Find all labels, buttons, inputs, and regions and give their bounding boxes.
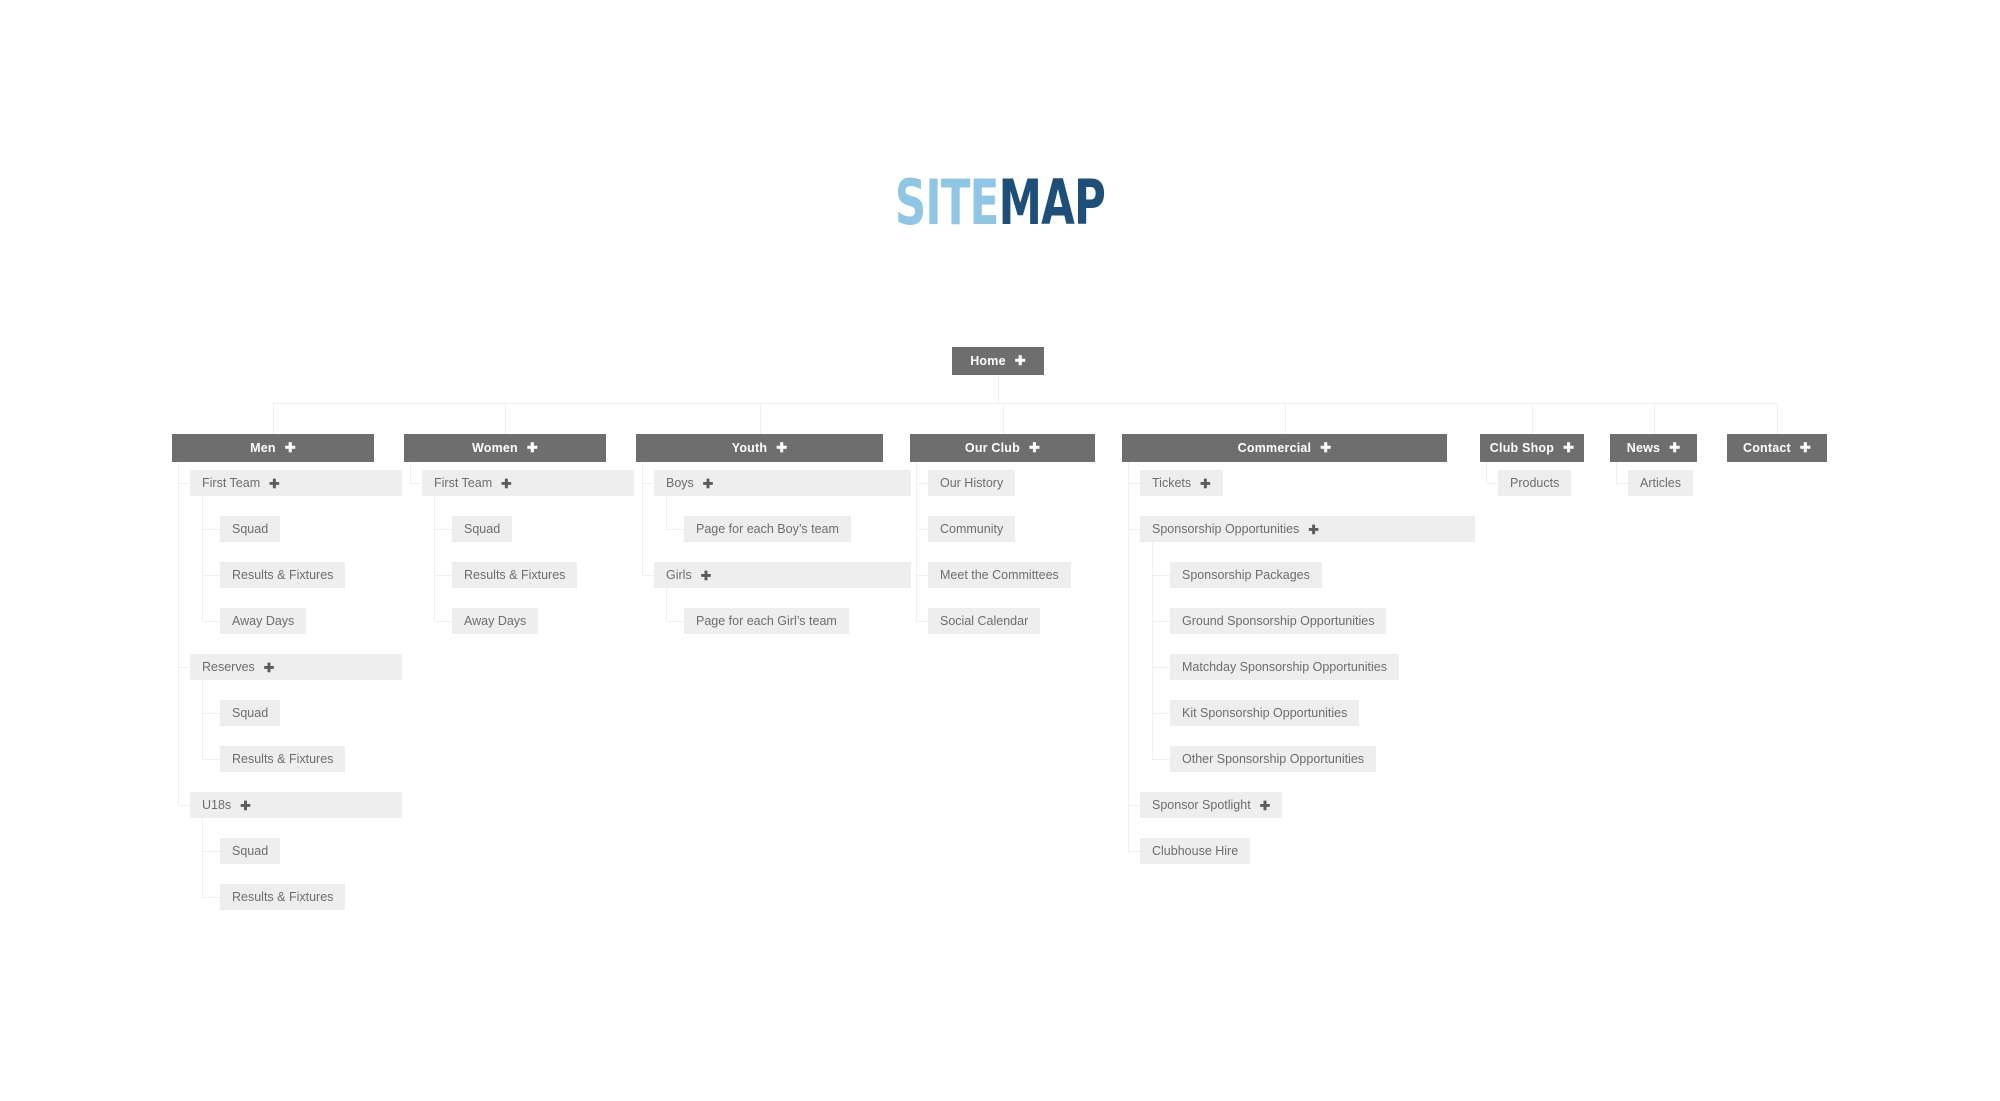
connector-stub	[1152, 575, 1170, 576]
node-our-club-label: Our Club	[965, 441, 1020, 455]
node-squad-label: Squad	[232, 844, 268, 858]
expand-icon[interactable]: ✚	[1015, 353, 1026, 369]
connector-root-drop	[998, 375, 999, 403]
connector-rail	[202, 496, 203, 621]
node-sponsorship-packages-label: Sponsorship Packages	[1182, 568, 1310, 582]
node-results-fixtures[interactable]: Results & Fixtures	[220, 746, 345, 772]
node-our-history-label: Our History	[940, 476, 1003, 490]
expand-icon[interactable]: ✚	[701, 568, 711, 583]
node-results-fixtures-label: Results & Fixtures	[232, 752, 333, 766]
node-reserves[interactable]: Reserves✚	[190, 654, 402, 680]
node-squad[interactable]: Squad	[220, 700, 280, 726]
connector-stub	[202, 529, 220, 530]
node-our-club[interactable]: Our Club✚	[910, 434, 1095, 462]
connector-rail	[916, 462, 917, 621]
connector-stub	[202, 851, 220, 852]
expand-icon[interactable]: ✚	[1260, 798, 1270, 813]
node-reserves-label: Reserves	[202, 660, 255, 674]
expand-icon[interactable]: ✚	[703, 476, 713, 491]
connector-rail	[642, 462, 643, 575]
node-boys[interactable]: Boys✚	[654, 470, 911, 496]
connector-stub	[916, 621, 928, 622]
node-other-sponsorship-opportunities[interactable]: Other Sponsorship Opportunities	[1170, 746, 1376, 772]
connector-rail	[410, 462, 411, 483]
page-title-part1: SITE	[895, 166, 999, 239]
node-squad-label: Squad	[232, 706, 268, 720]
node-page-for-each-girl-s-team-label: Page for each Girl’s team	[696, 614, 837, 628]
connector-stub	[202, 759, 220, 760]
connector-stub	[1128, 483, 1140, 484]
node-sponsorship-opportunities-label: Sponsorship Opportunities	[1152, 522, 1299, 536]
connector-rail	[666, 588, 667, 621]
connector-stub	[1152, 713, 1170, 714]
connector-stub	[410, 483, 422, 484]
node-away-days-label: Away Days	[232, 614, 294, 628]
node-news[interactable]: News✚	[1610, 434, 1697, 462]
node-first-team-label: First Team	[434, 476, 492, 490]
connector-stub	[1128, 805, 1140, 806]
node-home-label: Home	[970, 354, 1006, 368]
connector-stub	[178, 805, 190, 806]
node-matchday-sponsorship-opportunities-label: Matchday Sponsorship Opportunities	[1182, 660, 1387, 674]
node-social-calendar-label: Social Calendar	[940, 614, 1028, 628]
node-articles-label: Articles	[1640, 476, 1681, 490]
node-women[interactable]: Women✚	[404, 434, 606, 462]
node-products-label: Products	[1510, 476, 1559, 490]
expand-icon[interactable]: ✚	[776, 440, 787, 456]
node-results-fixtures[interactable]: Results & Fixtures	[452, 562, 577, 588]
connector-rail	[202, 818, 203, 897]
node-our-history[interactable]: Our History	[928, 470, 1015, 496]
node-men[interactable]: Men✚	[172, 434, 374, 462]
node-results-fixtures-label: Results & Fixtures	[232, 890, 333, 904]
node-contact[interactable]: Contact✚	[1727, 434, 1827, 462]
node-community[interactable]: Community	[928, 516, 1015, 542]
connector-rail	[666, 496, 667, 529]
node-first-team[interactable]: First Team✚	[190, 470, 402, 496]
connector-stub	[178, 483, 190, 484]
connector-stub	[1616, 483, 1628, 484]
node-page-for-each-boy-s-team[interactable]: Page for each Boy’s team	[684, 516, 851, 542]
connector-stub	[1128, 529, 1140, 530]
connector-column-drop	[1285, 403, 1286, 434]
connector-rail	[1128, 462, 1129, 851]
node-away-days[interactable]: Away Days	[452, 608, 538, 634]
expand-icon[interactable]: ✚	[285, 440, 296, 456]
node-girls-label: Girls	[666, 568, 692, 582]
expand-icon[interactable]: ✚	[1563, 440, 1574, 456]
node-men-label: Men	[250, 441, 276, 455]
node-results-fixtures[interactable]: Results & Fixtures	[220, 884, 345, 910]
node-clubhouse-hire-label: Clubhouse Hire	[1152, 844, 1238, 858]
connector-stub	[202, 575, 220, 576]
node-matchday-sponsorship-opportunities[interactable]: Matchday Sponsorship Opportunities	[1170, 654, 1399, 680]
node-ground-sponsorship-opportunities-label: Ground Sponsorship Opportunities	[1182, 614, 1374, 628]
expand-icon[interactable]: ✚	[269, 476, 279, 491]
connector-stub	[666, 529, 684, 530]
node-women-label: Women	[472, 441, 518, 455]
node-ground-sponsorship-opportunities[interactable]: Ground Sponsorship Opportunities	[1170, 608, 1386, 634]
expand-icon[interactable]: ✚	[1800, 440, 1811, 456]
node-away-days-label: Away Days	[464, 614, 526, 628]
connector-stub	[1128, 851, 1140, 852]
node-u18s[interactable]: U18s✚	[190, 792, 402, 818]
node-sponsorship-packages[interactable]: Sponsorship Packages	[1170, 562, 1322, 588]
node-sponsor-spotlight[interactable]: Sponsor Spotlight✚	[1140, 792, 1282, 818]
expand-icon[interactable]: ✚	[264, 660, 274, 675]
node-page-for-each-boy-s-team-label: Page for each Boy’s team	[696, 522, 839, 536]
node-commercial-label: Commercial	[1238, 441, 1312, 455]
node-results-fixtures-label: Results & Fixtures	[464, 568, 565, 582]
node-home[interactable]: Home✚	[952, 347, 1044, 375]
connector-rail	[178, 462, 179, 805]
connector-column-drop	[1532, 403, 1533, 434]
node-community-label: Community	[940, 522, 1003, 536]
expand-icon[interactable]: ✚	[501, 476, 511, 491]
node-squad-label: Squad	[232, 522, 268, 536]
node-meet-the-committees-label: Meet the Committees	[940, 568, 1059, 582]
node-sponsor-spotlight-label: Sponsor Spotlight	[1152, 798, 1251, 812]
connector-bus	[273, 403, 1777, 404]
connector-stub	[202, 621, 220, 622]
expand-icon[interactable]: ✚	[1200, 476, 1210, 491]
node-articles[interactable]: Articles	[1628, 470, 1693, 496]
node-clubhouse-hire[interactable]: Clubhouse Hire	[1140, 838, 1250, 864]
node-first-team-label: First Team	[202, 476, 260, 490]
connector-column-drop	[273, 403, 274, 434]
expand-icon[interactable]: ✚	[1669, 440, 1680, 456]
node-squad[interactable]: Squad	[220, 838, 280, 864]
connector-stub	[642, 575, 654, 576]
expand-icon[interactable]: ✚	[527, 440, 538, 456]
connector-rail	[1486, 462, 1487, 483]
connector-stub	[434, 529, 452, 530]
node-u18s-label: U18s	[202, 798, 231, 812]
connector-rail	[202, 680, 203, 759]
connector-stub	[1152, 621, 1170, 622]
expand-icon[interactable]: ✚	[1308, 522, 1318, 537]
node-club-shop[interactable]: Club Shop✚	[1480, 434, 1584, 462]
node-squad[interactable]: Squad	[452, 516, 512, 542]
node-away-days[interactable]: Away Days	[220, 608, 306, 634]
connector-column-drop	[760, 403, 761, 434]
connector-stub	[916, 575, 928, 576]
connector-column-drop	[505, 403, 506, 434]
node-results-fixtures-label: Results & Fixtures	[232, 568, 333, 582]
node-youth-label: Youth	[732, 441, 767, 455]
expand-icon[interactable]: ✚	[1029, 440, 1040, 456]
node-commercial[interactable]: Commercial✚	[1122, 434, 1447, 462]
connector-stub	[178, 667, 190, 668]
node-first-team[interactable]: First Team✚	[422, 470, 634, 496]
node-tickets[interactable]: Tickets✚	[1140, 470, 1223, 496]
connector-rail	[434, 496, 435, 621]
node-youth[interactable]: Youth✚	[636, 434, 883, 462]
node-squad-label: Squad	[464, 522, 500, 536]
connector-column-drop	[1003, 403, 1004, 434]
expand-icon[interactable]: ✚	[240, 798, 250, 813]
connector-stub	[666, 621, 684, 622]
node-girls[interactable]: Girls✚	[654, 562, 911, 588]
connector-stub	[434, 621, 452, 622]
node-products[interactable]: Products	[1498, 470, 1571, 496]
node-kit-sponsorship-opportunities-label: Kit Sponsorship Opportunities	[1182, 706, 1347, 720]
node-social-calendar[interactable]: Social Calendar	[928, 608, 1040, 634]
connector-stub	[1152, 759, 1170, 760]
connector-rail	[1616, 462, 1617, 483]
sitemap-canvas: SITEMAP Home✚Men✚First Team✚SquadResults…	[0, 0, 2000, 1101]
node-boys-label: Boys	[666, 476, 694, 490]
connector-stub	[916, 529, 928, 530]
connector-stub	[434, 575, 452, 576]
node-news-label: News	[1627, 441, 1660, 455]
connector-stub	[1486, 483, 1498, 484]
node-kit-sponsorship-opportunities[interactable]: Kit Sponsorship Opportunities	[1170, 700, 1359, 726]
node-meet-the-committees[interactable]: Meet the Committees	[928, 562, 1071, 588]
connector-stub	[202, 713, 220, 714]
connector-stub	[916, 483, 928, 484]
node-page-for-each-girl-s-team[interactable]: Page for each Girl’s team	[684, 608, 849, 634]
node-sponsorship-opportunities[interactable]: Sponsorship Opportunities✚	[1140, 516, 1475, 542]
node-other-sponsorship-opportunities-label: Other Sponsorship Opportunities	[1182, 752, 1364, 766]
page-title-part2: MAP	[999, 166, 1106, 239]
node-contact-label: Contact	[1743, 441, 1791, 455]
node-squad[interactable]: Squad	[220, 516, 280, 542]
node-club-shop-label: Club Shop	[1490, 441, 1554, 455]
page-title: SITEMAP	[220, 172, 1780, 234]
connector-stub	[642, 483, 654, 484]
node-results-fixtures[interactable]: Results & Fixtures	[220, 562, 345, 588]
expand-icon[interactable]: ✚	[1320, 440, 1331, 456]
connector-column-drop	[1654, 403, 1655, 434]
connector-stub	[1152, 667, 1170, 668]
node-tickets-label: Tickets	[1152, 476, 1191, 490]
connector-column-drop	[1777, 403, 1778, 434]
connector-rail	[1152, 542, 1153, 759]
connector-stub	[202, 897, 220, 898]
